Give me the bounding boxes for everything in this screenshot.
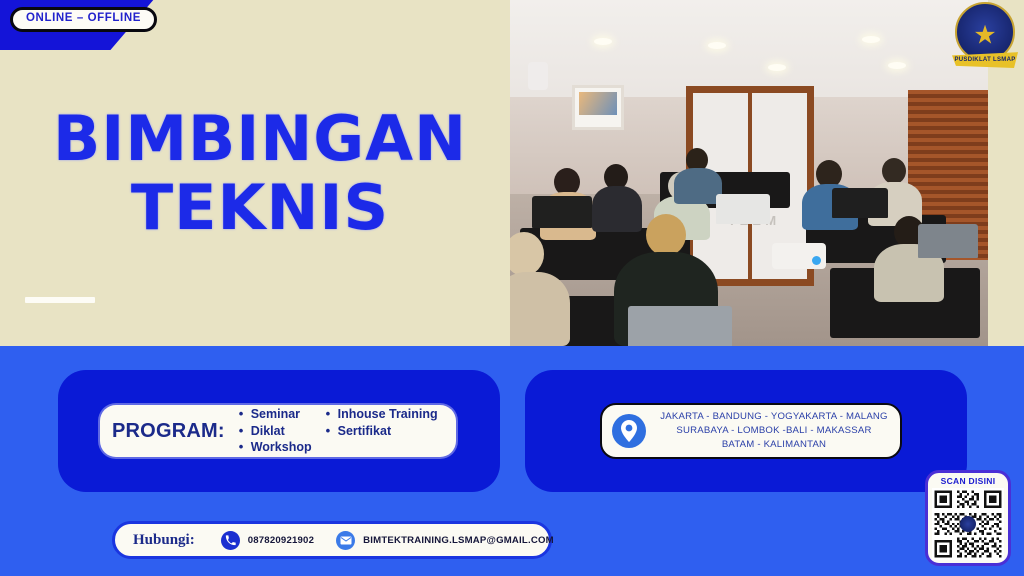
poster-canvas: ONLINE – OFFLINE BIMBINGAN TEKNIS MEET <box>0 0 1024 576</box>
photo-laptop <box>628 306 732 346</box>
ceiling-light-icon <box>862 36 880 43</box>
location-line: SURABAYA - LOMBOK -BALI - MAKASSAR <box>654 424 894 438</box>
photo-laptop <box>716 194 770 224</box>
program-column-2: Inhouse Training Sertifikat <box>326 406 438 456</box>
program-card: PROGRAM: Seminar Diklat Workshop Inhouse… <box>100 405 456 457</box>
title-line-2: TEKNIS <box>40 179 480 238</box>
qr-card[interactable]: SCAN DISINI <box>925 470 1011 566</box>
program-column-1: Seminar Diklat Workshop <box>239 406 312 456</box>
location-lines: JAKARTA - BANDUNG - YOGYAKARTA - MALANG … <box>654 410 900 453</box>
contact-label: Hubungi: <box>133 532 195 549</box>
location-line: BATAM - KALIMANTAN <box>654 438 894 452</box>
qr-title: SCAN DISINI <box>941 476 996 486</box>
email-address: BIMTEKTRAINING.LSMAP@GMAIL.COM <box>363 535 554 546</box>
program-item: Inhouse Training <box>326 406 438 423</box>
phone-number: 087820921902 <box>248 535 314 546</box>
contact-bar: Hubungi: 087820921902 BIMTEKTRAINING.LSM… <box>112 521 552 559</box>
wall-speaker-icon <box>528 62 548 90</box>
photo-person-body <box>592 186 642 232</box>
wings-icon: ★ <box>973 21 996 47</box>
garuda-emblem-icon: ★ PUSDIKLAT LSMAP <box>952 2 1018 68</box>
accent-dash <box>25 297 95 303</box>
ceiling-light-icon <box>708 42 726 49</box>
qr-code-image[interactable] <box>932 488 1004 560</box>
photo-person-head <box>882 158 906 184</box>
envelope-icon <box>336 531 355 550</box>
contact-email[interactable]: BIMTEKTRAINING.LSMAP@GMAIL.COM <box>336 531 554 550</box>
ceiling-light-icon <box>768 64 786 71</box>
ceiling-light-icon <box>594 38 612 45</box>
location-card: JAKARTA - BANDUNG - YOGYAKARTA - MALANG … <box>600 403 902 459</box>
title-line-1: BIMBINGAN <box>40 110 480 169</box>
photo-person-head <box>646 214 686 256</box>
map-pin-icon <box>612 414 646 448</box>
program-item: Workshop <box>239 439 312 456</box>
program-item: Sertifikat <box>326 423 438 440</box>
page-title: BIMBINGAN TEKNIS <box>40 110 480 238</box>
framed-picture <box>572 85 624 130</box>
location-line: JAKARTA - BANDUNG - YOGYAKARTA - MALANG <box>654 410 894 424</box>
ceiling-light-icon <box>888 62 906 69</box>
online-offline-badge: ONLINE – OFFLINE <box>10 7 157 32</box>
photo-projector <box>772 243 826 269</box>
contact-phone[interactable]: 087820921902 <box>221 531 314 550</box>
photo-laptop <box>532 196 592 228</box>
program-item: Diklat <box>239 423 312 440</box>
qr-center-logo-icon <box>960 516 976 532</box>
program-label: PROGRAM: <box>112 420 225 443</box>
phone-icon <box>221 531 240 550</box>
program-item: Seminar <box>239 406 312 423</box>
training-photo: MEET <box>510 0 988 346</box>
program-columns: Seminar Diklat Workshop Inhouse Training… <box>239 406 438 456</box>
photo-laptop <box>832 188 888 218</box>
photo-laptop <box>918 224 978 258</box>
photo-person-body <box>510 272 570 346</box>
photo-person-body <box>674 168 722 204</box>
